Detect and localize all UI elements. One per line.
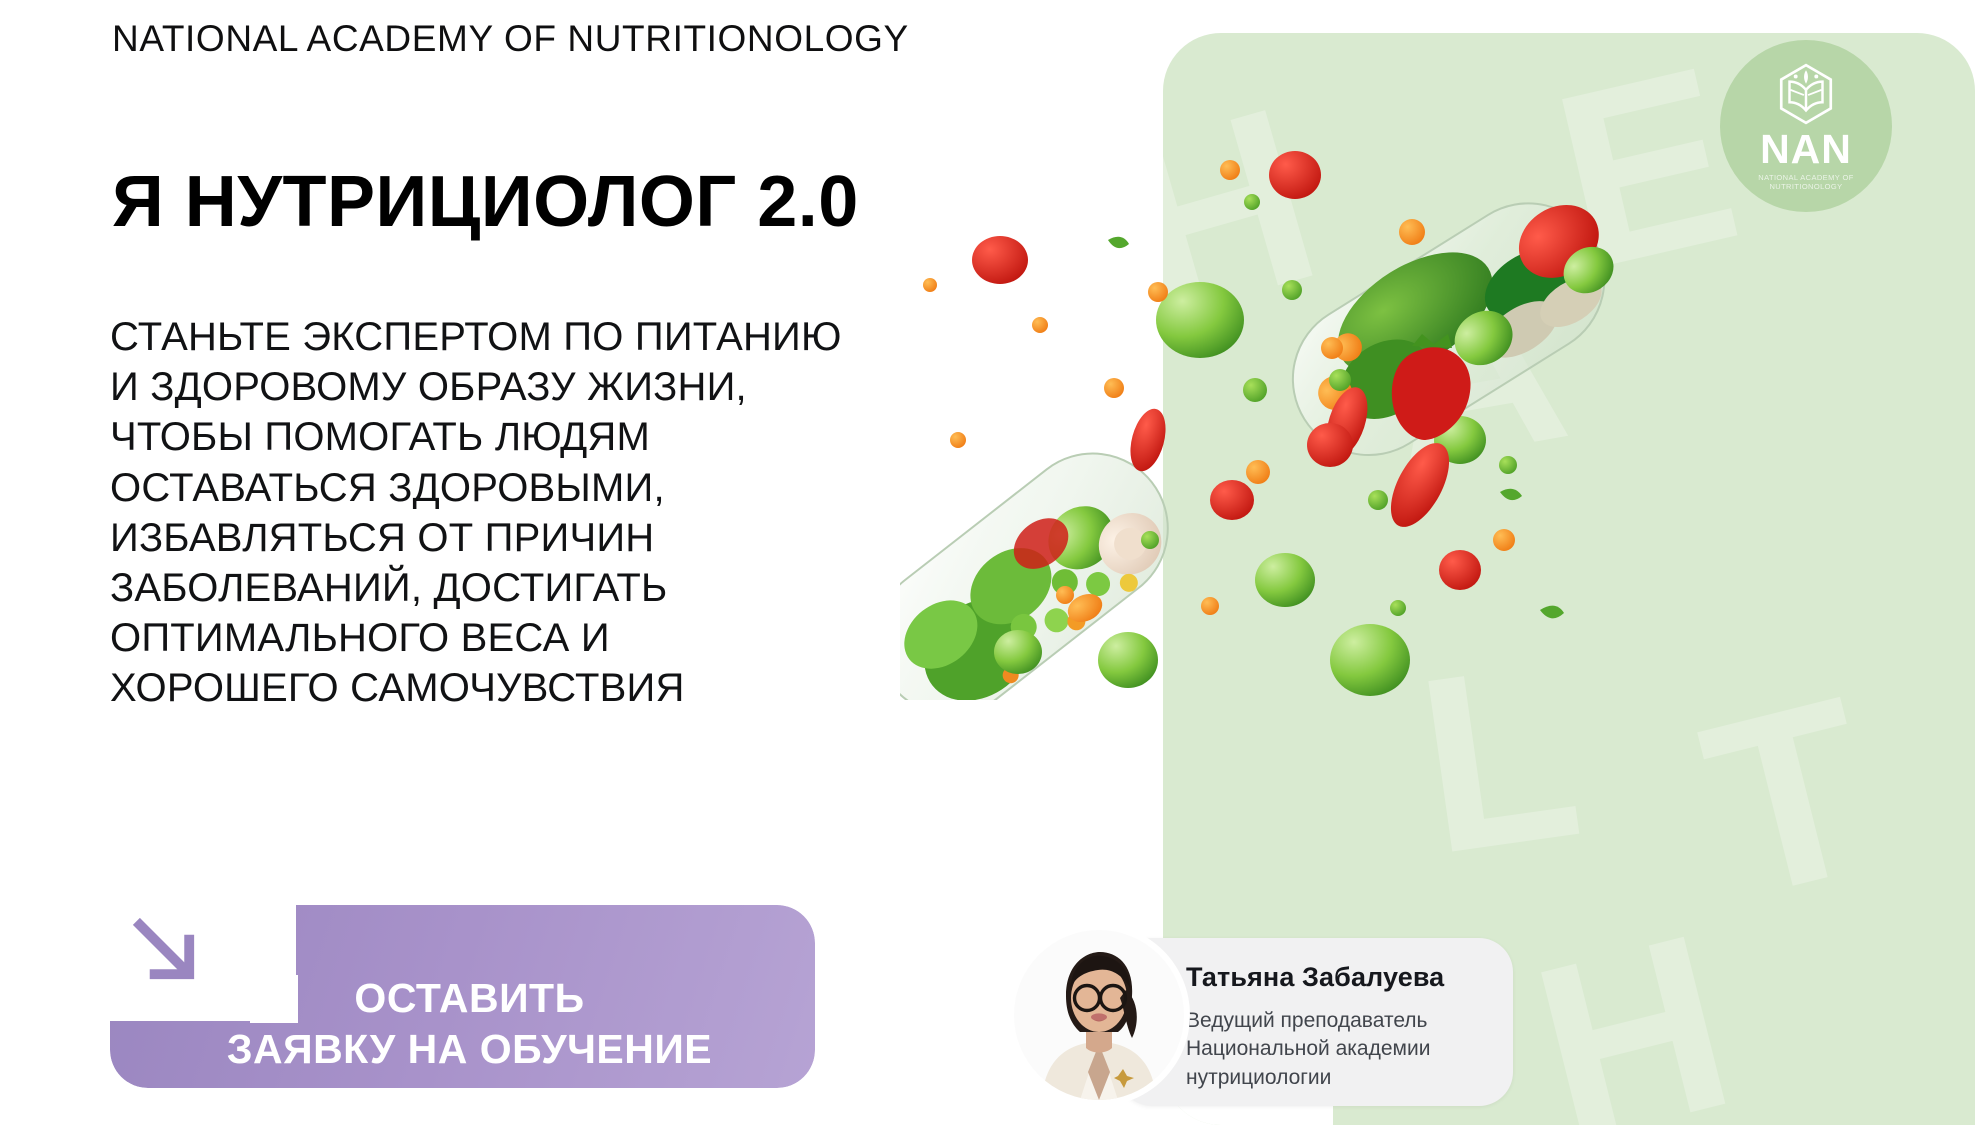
teacher-role: Ведущий преподаватель Национальной акаде… xyxy=(1186,1007,1499,1092)
academy-eyebrow-text: NATIONAL ACADEMY OF NUTRITIONOLOGY xyxy=(112,18,909,60)
watermark-letter-h2: H xyxy=(1515,895,1751,1125)
avatar xyxy=(1014,930,1184,1100)
teacher-role-line-2: Национальной академии xyxy=(1186,1035,1499,1063)
subhead-line-6: ЗАБОЛЕВАНИЙ, ДОСТИГАТЬ xyxy=(110,563,1010,613)
page-title: Я НУТРИЦИОЛОГ 2.0 xyxy=(112,166,859,238)
watermark-letter-l: L xyxy=(1406,624,1592,893)
subhead-line-5: ИЗБАВЛЯТЬСЯ ОТ ПРИЧИН xyxy=(110,513,1010,563)
subhead-line-8: ХОРОШЕГО САМОЧУВСТВИЯ xyxy=(110,663,1010,713)
teacher-role-line-3: нутрициологии xyxy=(1186,1064,1499,1092)
subhead-line-1: СТАНЬТЕ ЭКСПЕРТОМ ПО ПИТАНИЮ xyxy=(110,312,1010,362)
left-content-column: NATIONAL ACADEMY OF NUTRITIONOLOGY Я НУТ… xyxy=(0,0,1130,1125)
nan-tagline-line2: NUTRITIONOLOGY xyxy=(1769,182,1842,191)
cta-area: ОСТАВИТЬ ЗАЯВКУ НА ОБУЧЕНИЕ xyxy=(110,905,815,1088)
watermark-letter-h1: H xyxy=(1163,68,1340,358)
teacher-portrait-image xyxy=(1014,930,1184,1100)
teacher-name: Татьяна Забалуева xyxy=(1186,962,1499,993)
hero-subheading: СТАНЬТЕ ЭКСПЕРТОМ ПО ПИТАНИЮ И ЗДОРОВОМУ… xyxy=(110,312,1010,714)
watermark-letter-t: T xyxy=(1685,658,1894,938)
submit-application-button[interactable] xyxy=(110,905,815,1088)
nan-tagline-line1: NATIONAL ACADEMY OF xyxy=(1758,173,1853,182)
teacher-card-text: Татьяна Забалуева Ведущий преподаватель … xyxy=(1186,962,1499,1092)
poster-canvas: H E A L T H xyxy=(0,0,1975,1125)
watermark-letter-a: A xyxy=(1368,235,1580,501)
subhead-line-7: ОПТИМАЛЬНОГО ВЕСА И xyxy=(110,613,1010,663)
nan-tagline: NATIONAL ACADEMY OF NUTRITIONOLOGY xyxy=(1758,173,1853,192)
book-leaf-hexagon-icon xyxy=(1773,61,1839,127)
subhead-line-3: ЧТОБЫ ПОМОГАТЬ ЛЮДЯМ xyxy=(110,412,1010,462)
subhead-line-2: И ЗДОРОВОМУ ОБРАЗУ ЖИЗНИ, xyxy=(110,362,1010,412)
teacher-role-line-1: Ведущий преподаватель xyxy=(1186,1007,1499,1035)
watermark-letter-e: E xyxy=(1537,33,1756,309)
nan-wordmark: NAN xyxy=(1760,129,1852,170)
nan-logo: NAN NATIONAL ACADEMY OF NUTRITIONOLOGY xyxy=(1720,40,1892,212)
subhead-line-4: ОСТАВАТЬСЯ ЗДОРОВЫМИ, xyxy=(110,463,1010,513)
